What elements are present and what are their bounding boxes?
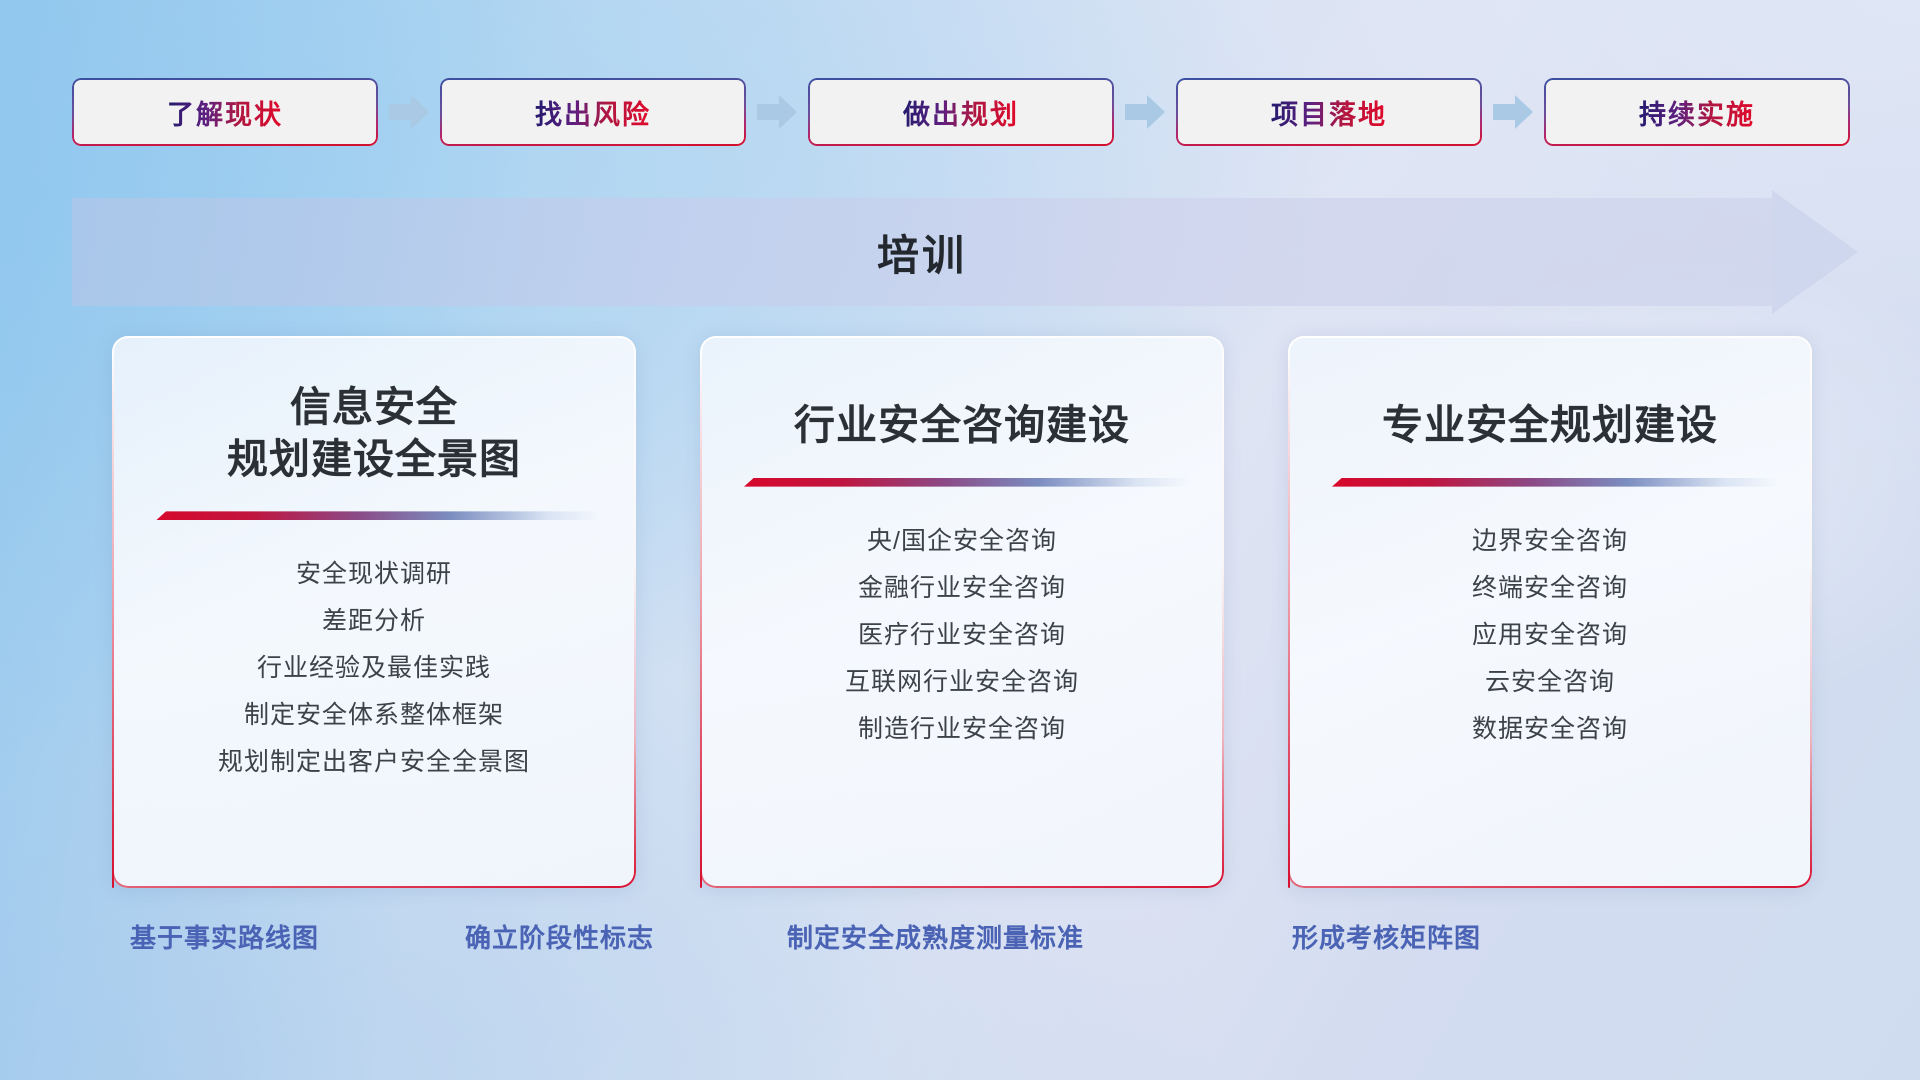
list-item: 制定安全体系整体框架 <box>142 692 606 739</box>
card-title-1: 信息安全 规划建设全景图 <box>227 382 521 485</box>
step-arrow-1 <box>378 95 440 129</box>
list-item: 制造行业安全咨询 <box>730 706 1194 753</box>
list-item: 安全现状调研 <box>142 551 606 598</box>
step-arrow-4 <box>1482 95 1544 129</box>
footer-label-1: 基于事实路线图 <box>130 918 319 955</box>
list-item: 边界安全咨询 <box>1318 518 1782 565</box>
card-divider-1 <box>142 511 606 521</box>
card-title-3: 专业安全规划建设 <box>1382 382 1718 452</box>
list-item: 差距分析 <box>142 598 606 645</box>
step-label-4: 项目落地 <box>1271 93 1387 132</box>
step-label-2: 找出风险 <box>535 93 651 132</box>
step-box-4[interactable]: 项目落地 <box>1176 78 1482 146</box>
card-1[interactable]: 信息安全 规划建设全景图 安全现状调研 差距分析 行业经验及最佳实践 制定安全体… <box>112 336 636 888</box>
step-arrow-2 <box>746 95 808 129</box>
card-3[interactable]: 专业安全规划建设 边界安全咨询 终端安全咨询 应用安全咨询 云安全咨询 数据安全… <box>1288 336 1812 888</box>
process-step-flow: 了解现状 找出风险 做出规划 项目落地 持续实施 <box>72 78 1852 146</box>
footer-label-4: 形成考核矩阵图 <box>1292 918 1481 955</box>
list-item: 应用安全咨询 <box>1318 612 1782 659</box>
capability-cards: 信息安全 规划建设全景图 安全现状调研 差距分析 行业经验及最佳实践 制定安全体… <box>112 336 1812 888</box>
step-box-3[interactable]: 做出规划 <box>808 78 1114 146</box>
card-2[interactable]: 行业安全咨询建设 央/国企安全咨询 金融行业安全咨询 医疗行业安全咨询 互联网行… <box>700 336 1224 888</box>
card-divider-2 <box>730 478 1194 488</box>
list-item: 数据安全咨询 <box>1318 706 1782 753</box>
card-list-1: 安全现状调研 差距分析 行业经验及最佳实践 制定安全体系整体框架 规划制定出客户… <box>142 551 606 786</box>
step-arrow-3 <box>1114 95 1176 129</box>
footer-label-3: 制定安全成熟度测量标准 <box>787 918 1084 955</box>
card-list-3: 边界安全咨询 终端安全咨询 应用安全咨询 云安全咨询 数据安全咨询 <box>1318 518 1782 753</box>
training-banner: 培训 <box>72 198 1858 306</box>
list-item: 终端安全咨询 <box>1318 565 1782 612</box>
list-item: 互联网行业安全咨询 <box>730 659 1194 706</box>
list-item: 云安全咨询 <box>1318 659 1782 706</box>
list-item: 行业经验及最佳实践 <box>142 645 606 692</box>
step-label-3: 做出规划 <box>903 93 1019 132</box>
step-box-1[interactable]: 了解现状 <box>72 78 378 146</box>
card-title-2: 行业安全咨询建设 <box>794 382 1130 452</box>
list-item: 央/国企安全咨询 <box>730 518 1194 565</box>
card-divider-3 <box>1318 478 1782 488</box>
step-label-5: 持续实施 <box>1639 93 1755 132</box>
footer-label-2: 确立阶段性标志 <box>465 918 654 955</box>
list-item: 金融行业安全咨询 <box>730 565 1194 612</box>
step-box-2[interactable]: 找出风险 <box>440 78 746 146</box>
list-item: 医疗行业安全咨询 <box>730 612 1194 659</box>
list-item: 规划制定出客户安全全景图 <box>142 739 606 786</box>
step-box-5[interactable]: 持续实施 <box>1544 78 1850 146</box>
step-label-1: 了解现状 <box>167 93 283 132</box>
card-list-2: 央/国企安全咨询 金融行业安全咨询 医疗行业安全咨询 互联网行业安全咨询 制造行… <box>730 518 1194 753</box>
banner-title: 培训 <box>72 198 1772 306</box>
footer-outcome-labels: 基于事实路线图 确立阶段性标志 制定安全成熟度测量标准 形成考核矩阵图 <box>0 918 1920 964</box>
banner-arrow-head-icon <box>1772 190 1858 314</box>
